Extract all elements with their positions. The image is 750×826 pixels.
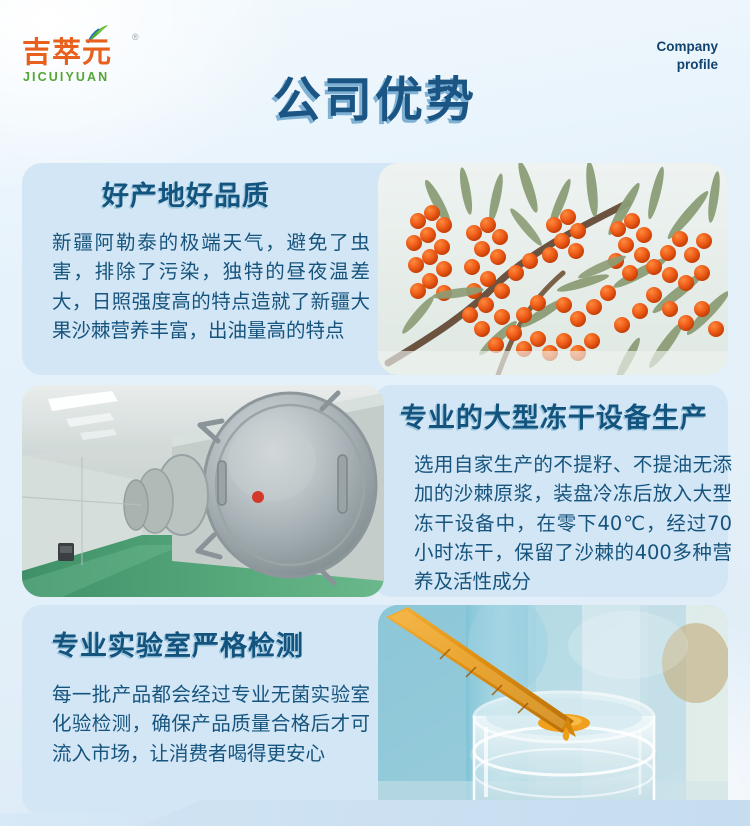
advantage-card: 好产地好品质 新疆阿勒泰的极端天气，避免了虫害，排除了污染，独特的昼夜温差大，日…	[22, 163, 728, 375]
logo-chinese-name: 吉萃元	[22, 38, 144, 67]
card-body-text: 新疆阿勒泰的极端天气，避免了虫害，排除了污染，独特的昼夜温差大，日照强度高的特点…	[52, 228, 370, 345]
card-body-text: 每一批产品都会经过专业无菌实验室化验检测，确保产品质量合格后才可流入市场，让消费…	[52, 680, 370, 768]
sea-buckthorn-berries-photo	[378, 163, 728, 375]
company-profile-label: Company profile	[568, 38, 718, 74]
company-advantages-page: 吉萃元 ® JICUIYUAN Company profile 公司优势	[0, 0, 750, 826]
card-title: 专业实验室严格检测	[52, 633, 304, 660]
laboratory-pipette-photo	[378, 605, 728, 815]
card-title: 专业的大型冻干设备生产	[400, 405, 708, 432]
advantage-card: 专业实验室严格检测 每一批产品都会经过专业无菌实验室化验检测，确保产品质量合格后…	[22, 605, 728, 815]
page-title: 公司优势	[0, 76, 750, 124]
card-body-text: 选用自家生产的不提籽、不提油无添加的沙棘原浆，装盘冷冻后放入大型冻干设备中，在零…	[414, 450, 732, 596]
page-header: 吉萃元 ® JICUIYUAN Company profile 公司优势	[0, 0, 750, 150]
card-title: 好产地好品质	[102, 183, 270, 210]
freeze-dry-equipment-photo	[22, 385, 384, 597]
registered-trademark-icon: ®	[132, 32, 139, 42]
advantage-card: 专业的大型冻干设备生产 选用自家生产的不提籽、不提油无添加的沙棘原浆，装盘冷冻后…	[22, 385, 728, 597]
